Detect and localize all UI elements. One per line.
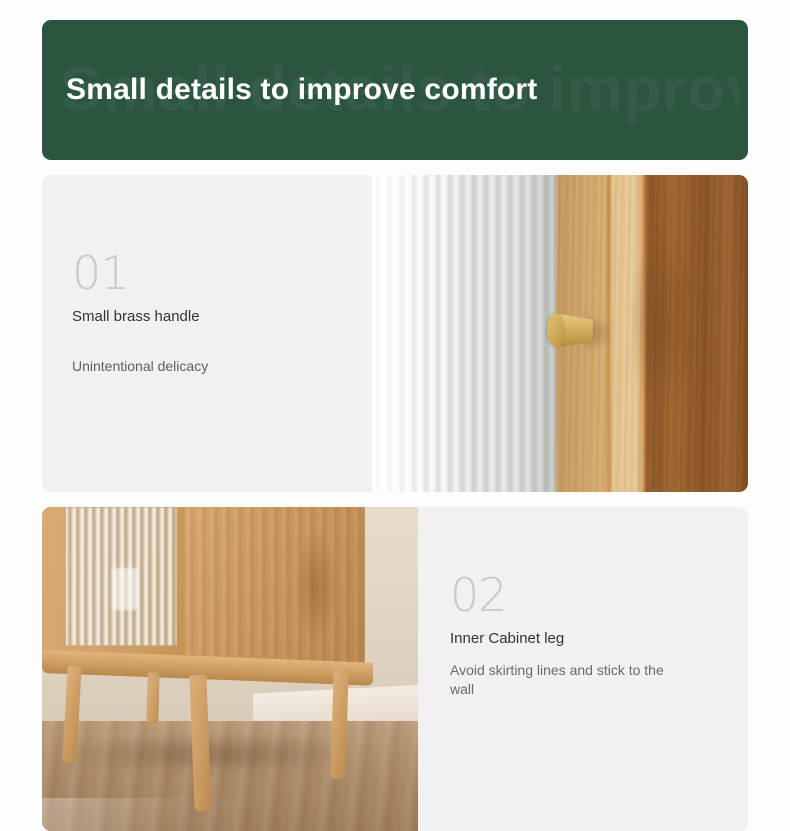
cabinet-wood-knot <box>297 531 335 641</box>
brass-handle-photo <box>372 175 748 492</box>
feature-card-01-text: 01 Small brass handle Unintentional deli… <box>42 175 372 492</box>
feature-image-01 <box>372 175 748 492</box>
oak-knot-detail <box>629 232 699 412</box>
banner-title: Small details to improve comfort <box>66 20 538 160</box>
feature-card-02: 02 Inner Cabinet leg Avoid skirting line… <box>42 507 748 831</box>
feature-title-02: Inner Cabinet leg <box>450 630 748 649</box>
feature-card-01: 01 Small brass handle Unintentional deli… <box>42 175 748 492</box>
feature-number-02: 02 <box>450 572 748 618</box>
fluted-glass-shading <box>372 175 556 492</box>
product-detail-page: Small details to improve comfort Small d… <box>0 0 790 831</box>
cabinet-floor-shadow <box>57 734 365 773</box>
cabinet-leg-rear-left <box>147 672 160 724</box>
item-behind-glass <box>112 568 138 610</box>
feature-card-02-text: 02 Inner Cabinet leg Avoid skirting line… <box>418 507 748 831</box>
feature-number-01: 01 <box>72 250 372 296</box>
feature-title-01: Small brass handle <box>72 308 372 327</box>
cabinet-leg-rear-right <box>330 669 348 780</box>
feature-description-01: Unintentional delicacy <box>72 353 272 380</box>
cabinet-leg-photo <box>42 507 418 831</box>
feature-image-02 <box>42 507 418 831</box>
brass-knob-face <box>547 313 565 347</box>
cabinet-side-panel <box>185 507 365 675</box>
feature-description-02: Avoid skirting lines and stick to the wa… <box>450 661 670 699</box>
brass-knob-handle <box>547 311 593 349</box>
section-banner: Small details to improve comfort Small d… <box>42 20 748 160</box>
fluted-glass-door <box>65 507 178 646</box>
